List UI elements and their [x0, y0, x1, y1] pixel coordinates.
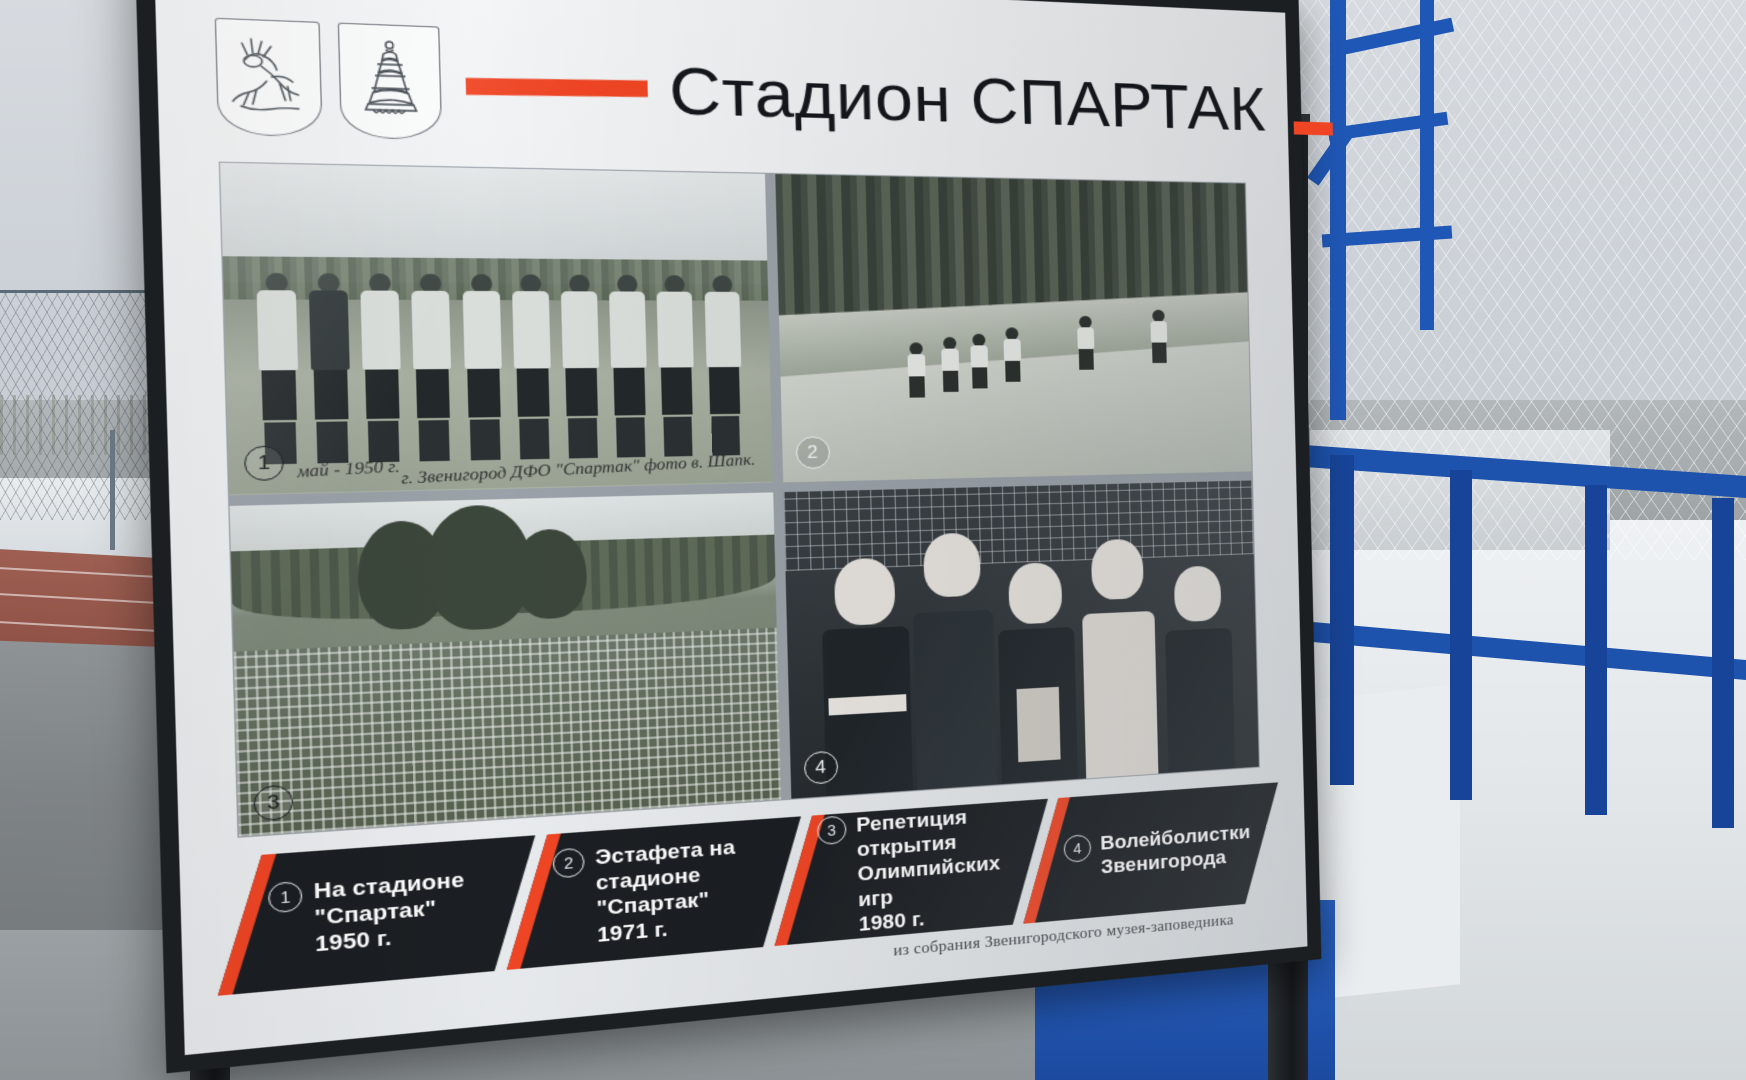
caption-block-1[interactable]: 1 На стадионе "Спартак" 1950 г. [218, 835, 535, 995]
blue-railing-post [1450, 470, 1472, 800]
photo-relay-race-1971[interactable]: 2 [775, 174, 1252, 482]
caption-text: Эстафета на стадионе "Спартак" 1971 г. [595, 832, 774, 948]
board-face: Стадион СПАРТАК [154, 0, 1307, 1055]
caption-number-badge: 2 [553, 847, 585, 878]
caption-number-badge: 3 [817, 815, 847, 845]
blue-railing-post [1585, 485, 1607, 815]
caption-block-3[interactable]: 3 Репетиция открытия Олимпийских игр 198… [775, 799, 1048, 946]
title-accent-bar-right [1293, 121, 1332, 135]
caption-text: Репетиция открытия Олимпийских игр 1980 … [856, 802, 1023, 937]
blue-railing-post [1712, 498, 1734, 828]
board-header: Стадион СПАРТАК [214, 7, 1245, 168]
caption-number-badge: 1 [268, 881, 303, 914]
page-title: Стадион СПАРТАК [668, 51, 1267, 145]
caption-text: Волейболистки Звенигорода [1100, 821, 1251, 880]
outdoor-scene: Стадион СПАРТАК [0, 0, 1746, 1080]
information-board[interactable]: Стадион СПАРТАК [135, 0, 1322, 1073]
photo-volleyball-women[interactable]: 4 [783, 480, 1259, 799]
caption-number-badge: 4 [1064, 834, 1092, 863]
photo-grid: 1 май - 1950 г. г. Звенигород ДФО "Спарт… [219, 162, 1260, 838]
coat-of-arms-zvenigorod-deer-icon [215, 18, 323, 137]
fence-post [110, 430, 115, 550]
photo-olympic-rehearsal-1980[interactable]: 3 [230, 492, 781, 837]
coat-of-arms-bell-icon [338, 23, 443, 141]
blue-railing-post [1330, 455, 1354, 785]
photo-football-team-1950[interactable]: 1 май - 1950 г. г. Звенигород ДФО "Спарт… [220, 163, 772, 495]
caption-block-2[interactable]: 2 Эстафета на стадионе "Спартак" 1971 г. [507, 816, 801, 970]
caption-block-4[interactable]: 4 Волейболистки Звенигорода [1023, 782, 1278, 923]
caption-text: На стадионе "Спартак" 1950 г. [313, 868, 466, 959]
photo-number-badge: 1 [244, 445, 284, 481]
title-accent-bar [466, 77, 648, 96]
photo-number-badge: 2 [795, 436, 830, 469]
